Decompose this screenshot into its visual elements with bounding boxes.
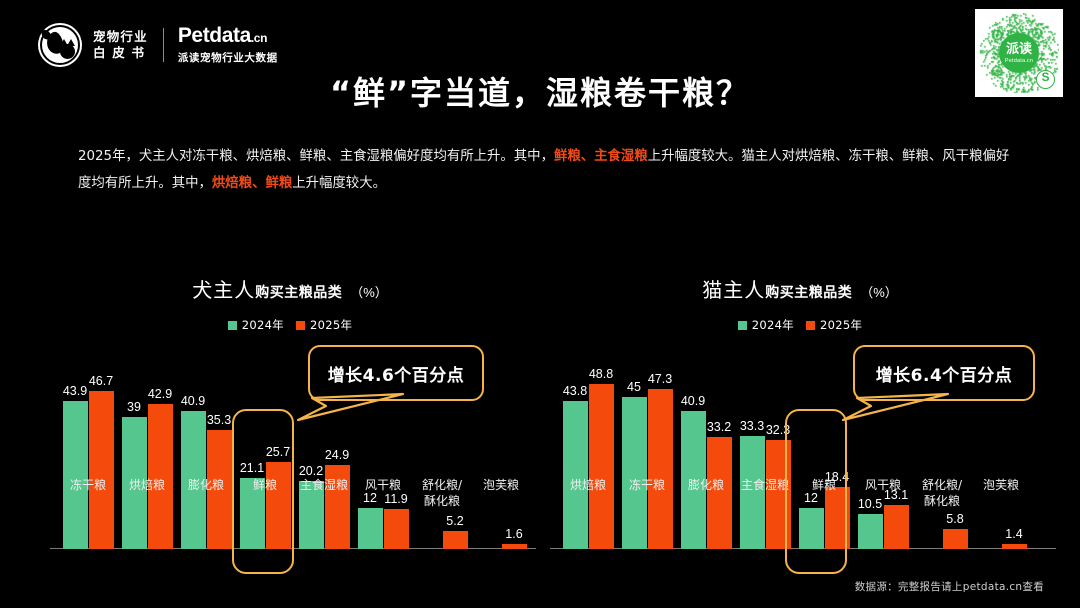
bar-2025: 1.6	[502, 544, 527, 549]
callout-cat-growth: 增长6.4个百分点	[853, 345, 1035, 401]
source-note: 数据源：完整报告请上petdata.cn查看	[855, 579, 1044, 594]
qr-center-logo: 派读 Petdata.cn	[999, 33, 1039, 73]
category-label: 风干粮	[857, 478, 909, 494]
chart-cat-title-unit: （%）	[860, 285, 898, 300]
category-label: 鲜粮	[239, 478, 291, 494]
category-label: 冻干粮	[621, 478, 673, 494]
bar-value-label: 45	[627, 380, 641, 394]
brand-cn-line2: 白 皮 书	[93, 45, 148, 61]
legend-label-2024: 2024年	[752, 317, 794, 333]
brand-divider	[163, 28, 164, 62]
chart-dog: 犬主人购买主粮品类（%） 2024年 2025年 43.946.73942.94…	[40, 274, 540, 594]
brand-logo: 宠物行业 白 皮 书 Petdata.cn 派读宠物行业大数据	[38, 20, 278, 70]
category-label: 鲜粮	[798, 478, 850, 494]
chart-cat-title-lead: 猫主人	[702, 278, 765, 302]
chart-dog-legend: 2024年 2025年	[40, 317, 540, 333]
bar-value-label: 40.9	[681, 394, 705, 408]
category-label: 膨化粮	[180, 478, 232, 494]
category-label: 冻干粮	[62, 478, 114, 494]
bar-value-label: 33.3	[740, 419, 764, 433]
legend-label-2025: 2025年	[820, 317, 862, 333]
qr-center-sub: Petdata.cn	[1005, 58, 1033, 64]
category-label: 主食湿粮	[298, 478, 350, 494]
legend-item-2024: 2024年	[738, 317, 794, 333]
page-title: “鲜”字当道，湿粮卷干粮？	[0, 68, 1080, 114]
callout-dog-text: 增长4.6个百分点	[328, 361, 465, 386]
category-label: 风干粮	[357, 478, 409, 494]
legend-item-2025: 2025年	[296, 317, 352, 333]
brand-en-name: Petdata	[178, 24, 251, 47]
bar-value-label: 42.9	[148, 387, 172, 401]
bar-value-label: 24.9	[325, 448, 349, 462]
category-label: 舒化粮/酥化粮	[416, 478, 468, 509]
legend-swatch-2024	[228, 321, 237, 330]
legend-label-2024: 2024年	[242, 317, 284, 333]
bar-value-label: 20.2	[299, 464, 323, 478]
chart-cat-category-labels: 烘焙粮冻干粮膨化粮主食湿粮鲜粮风干粮舒化粮/酥化粮泡芙粮	[540, 478, 1060, 538]
legend-swatch-2025	[806, 321, 815, 330]
bar-group: 1.6	[475, 544, 527, 549]
category-label: 泡芙粮	[975, 478, 1027, 494]
bar-value-label: 43.9	[63, 384, 87, 398]
chart-cat-legend: 2024年 2025年	[540, 317, 1060, 333]
summary-paragraph: 2025年，犬主人对冻干粮、烘焙粮、鲜粮、主食湿粮偏好度均有所上升。其中，鲜粮、…	[78, 144, 1020, 198]
chart-dog-category-labels: 冻干粮烘焙粮膨化粮鲜粮主食湿粮风干粮舒化粮/酥化粮泡芙粮	[40, 478, 540, 538]
category-label: 烘焙粮	[121, 478, 173, 494]
legend-swatch-2024	[738, 321, 747, 330]
bar-value-label: 25.7	[266, 445, 290, 459]
bar-value-label: 32.3	[766, 423, 790, 437]
chart-dog-title-rest: 购买主粮品类	[255, 285, 342, 301]
bar-value-label: 47.3	[648, 372, 672, 386]
chart-dog-title: 犬主人购买主粮品类（%）	[40, 274, 540, 303]
bar-value-label: 40.9	[181, 394, 205, 408]
bar-group: 1.4	[975, 544, 1027, 549]
brand-cn-line1: 宠物行业	[93, 29, 148, 45]
bar-value-label: 21.1	[240, 461, 264, 475]
bar-value-label: 39	[127, 400, 141, 414]
slide-root: 宠物行业 白 皮 书 Petdata.cn 派读宠物行业大数据 派读 Petda…	[0, 0, 1080, 608]
legend-label-2025: 2025年	[310, 317, 352, 333]
chart-cat: 猫主人购买主粮品类（%） 2024年 2025年 43.848.84547.34…	[540, 274, 1060, 594]
category-label: 舒化粮/酥化粮	[916, 478, 968, 509]
summary-highlight: 鲜粮、主食湿粮	[554, 149, 648, 164]
bar-value-label: 35.3	[207, 413, 231, 427]
legend-item-2025: 2025年	[806, 317, 862, 333]
bar-value-label: 46.7	[89, 374, 113, 388]
chart-dog-title-unit: （%）	[350, 285, 388, 300]
callout-cat-text: 增长6.4个百分点	[876, 361, 1013, 386]
summary-highlight: 烘焙粮、鲜粮	[212, 176, 292, 191]
chart-cat-title: 猫主人购买主粮品类（%）	[540, 274, 1060, 303]
dog-cat-circle-icon	[38, 23, 82, 67]
bar-value-label: 48.8	[589, 367, 613, 381]
summary-text: 2025年，犬主人对冻干粮、烘焙粮、鲜粮、主食湿粮偏好度均有所上升。其中，	[78, 149, 554, 164]
qr-center-title: 派读	[1006, 43, 1032, 56]
brand-chinese-name: 宠物行业 白 皮 书	[93, 29, 148, 61]
category-label: 烘焙粮	[562, 478, 614, 494]
category-label: 主食湿粮	[739, 478, 791, 494]
category-label: 膨化粮	[680, 478, 732, 494]
bar-value-label: 33.2	[707, 420, 731, 434]
brand-en-sub: 派读宠物行业大数据	[178, 50, 278, 65]
brand-en-tld: .cn	[251, 31, 267, 45]
bar-2025: 1.4	[1002, 544, 1027, 549]
chart-cat-title-rest: 购买主粮品类	[765, 285, 852, 301]
category-label: 泡芙粮	[475, 478, 527, 494]
brand-english-name: Petdata.cn 派读宠物行业大数据	[178, 25, 278, 65]
legend-item-2024: 2024年	[228, 317, 284, 333]
callout-dog-growth: 增长4.6个百分点	[308, 345, 484, 401]
chart-dog-title-lead: 犬主人	[192, 278, 255, 302]
legend-swatch-2025	[296, 321, 305, 330]
bar-value-label: 43.8	[563, 384, 587, 398]
summary-text: 上升幅度较大。	[292, 176, 386, 191]
